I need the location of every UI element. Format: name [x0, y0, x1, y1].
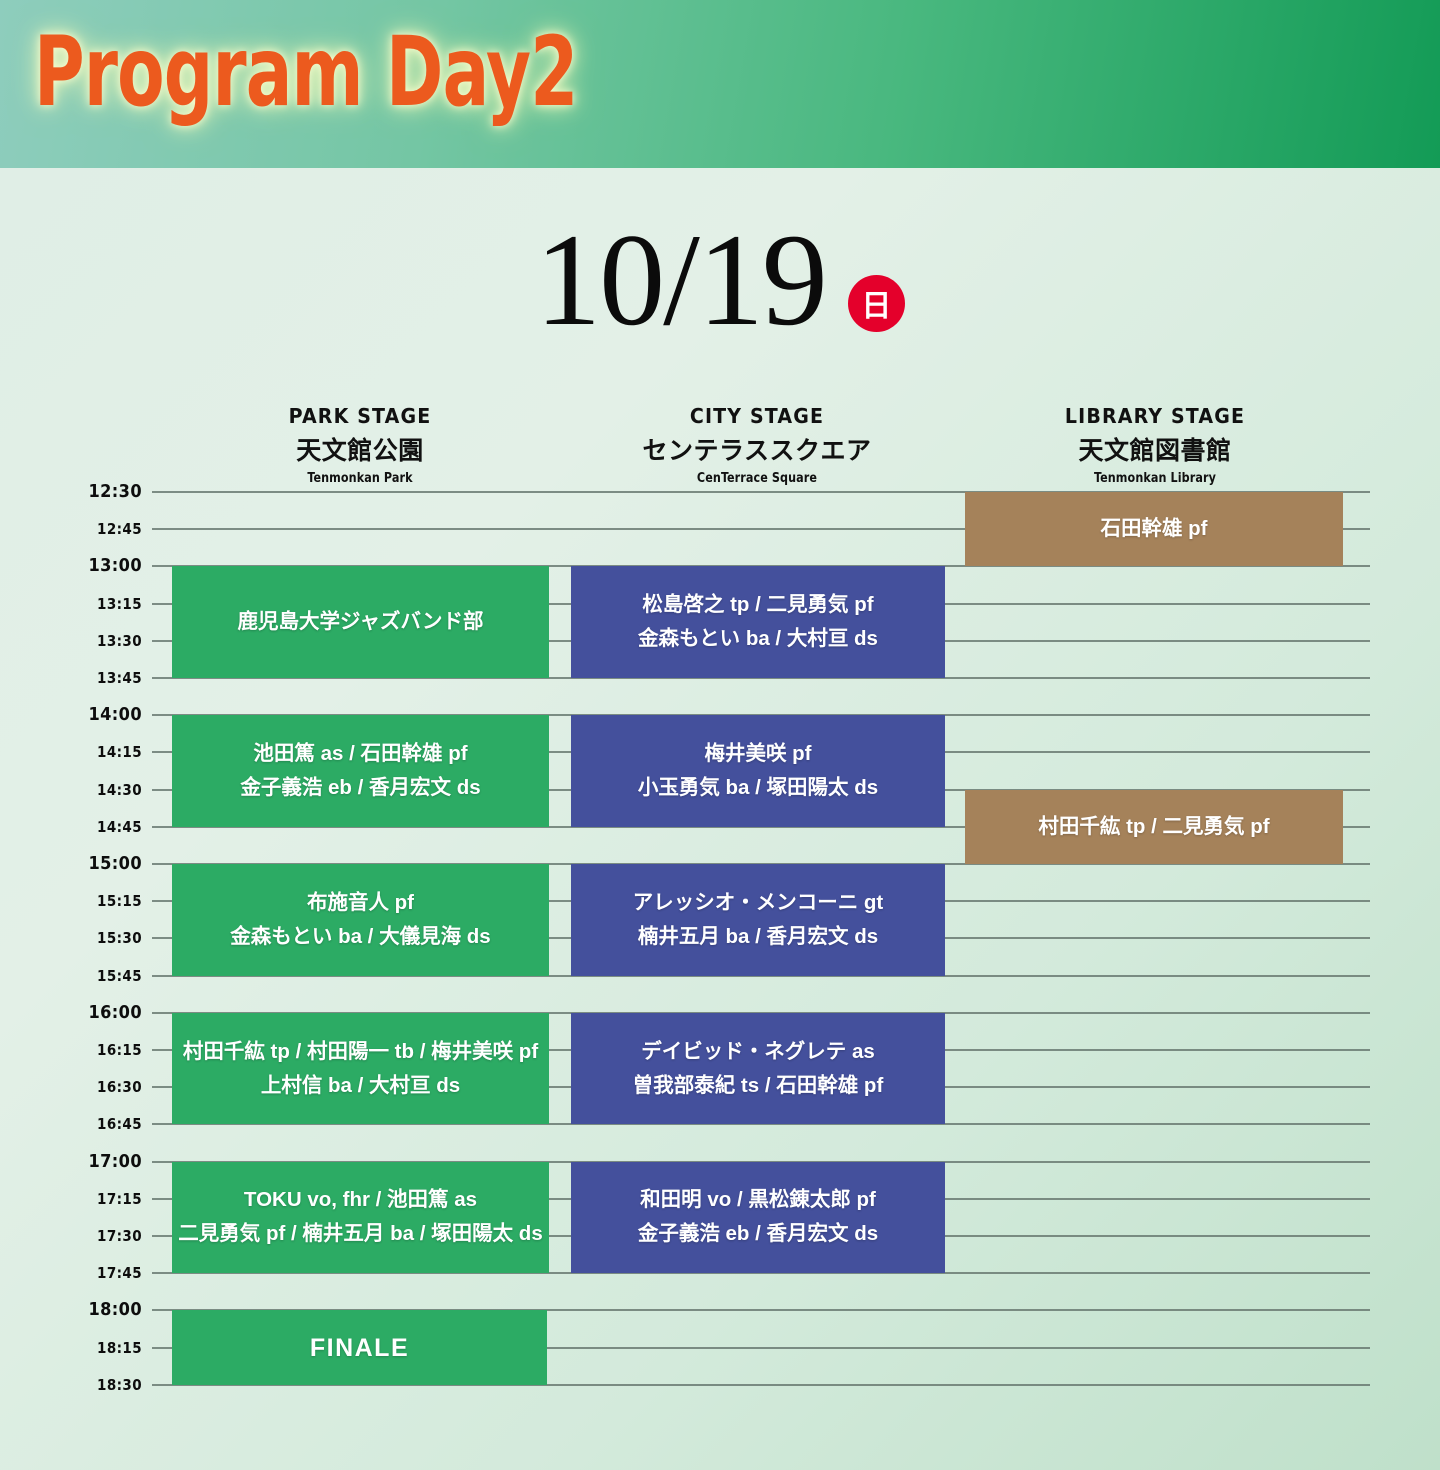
event-line: FINALE — [310, 1331, 409, 1365]
time-label: 13:15 — [97, 595, 142, 613]
time-label: 16:30 — [97, 1078, 142, 1096]
time-label: 15:45 — [97, 967, 142, 985]
event-line: 小玉勇気 ba / 塚田陽太 ds — [638, 771, 878, 805]
time-label: 14:30 — [97, 781, 142, 799]
schedule-grid: 12:3012:4513:0013:1513:3013:4514:0014:15… — [0, 0, 1440, 1470]
time-label: 14:15 — [97, 743, 142, 761]
event-line: 楠井五月 ba / 香月宏文 ds — [638, 920, 878, 954]
time-label: 13:45 — [97, 669, 142, 687]
time-label: 14:45 — [97, 818, 142, 836]
time-label: 12:30 — [88, 481, 142, 502]
event-block-park[interactable]: TOKU vo, fhr / 池田篤 as二見勇気 pf / 楠井五月 ba /… — [172, 1162, 549, 1274]
event-line: 村田千紘 tp / 村田陽一 tb / 梅井美咲 pf — [183, 1035, 538, 1069]
event-block-park[interactable]: 村田千紘 tp / 村田陽一 tb / 梅井美咲 pf上村信 ba / 大村亘 … — [172, 1013, 549, 1125]
event-line: 鹿児島大学ジャズバンド部 — [238, 605, 484, 639]
event-line: 金子義浩 eb / 香月宏文 ds — [240, 771, 480, 805]
event-line: 梅井美咲 pf — [704, 737, 811, 771]
event-line: デイビッド・ネグレテ as — [641, 1035, 875, 1069]
event-line: 上村信 ba / 大村亘 ds — [261, 1069, 460, 1103]
event-block-park[interactable]: 池田篤 as / 石田幹雄 pf金子義浩 eb / 香月宏文 ds — [172, 715, 549, 827]
event-line: 金森もとい ba / 大儀見海 ds — [230, 920, 490, 954]
time-label: 17:30 — [97, 1227, 142, 1245]
event-line: 石田幹雄 pf — [1100, 512, 1207, 546]
time-label: 16:15 — [97, 1041, 142, 1059]
time-label: 15:30 — [97, 929, 142, 947]
event-line: 布施音人 pf — [307, 886, 414, 920]
event-line: 金森もとい ba / 大村亘 ds — [638, 622, 878, 656]
event-line: アレッシオ・メンコーニ gt — [633, 886, 884, 920]
event-block-library[interactable]: 石田幹雄 pf — [965, 492, 1343, 566]
event-line: 池田篤 as / 石田幹雄 pf — [253, 737, 467, 771]
time-label: 15:15 — [97, 892, 142, 910]
time-label: 17:15 — [97, 1190, 142, 1208]
time-label: 15:00 — [88, 853, 142, 874]
event-block-park[interactable]: 鹿児島大学ジャズバンド部 — [172, 566, 549, 678]
time-label: 12:45 — [97, 520, 142, 538]
time-label: 16:45 — [97, 1115, 142, 1133]
event-line: 金子義浩 eb / 香月宏文 ds — [638, 1217, 878, 1251]
event-line: 和田明 vo / 黒松錬太郎 pf — [640, 1183, 876, 1217]
event-line: 松島啓之 tp / 二見勇気 pf — [642, 588, 873, 622]
event-block-park[interactable]: 布施音人 pf金森もとい ba / 大儀見海 ds — [172, 864, 549, 976]
time-label: 17:00 — [88, 1151, 142, 1172]
event-block-city[interactable]: アレッシオ・メンコーニ gt楠井五月 ba / 香月宏文 ds — [571, 864, 945, 976]
time-label: 18:15 — [97, 1339, 142, 1357]
time-label: 16:00 — [88, 1002, 142, 1023]
time-label: 13:00 — [88, 555, 142, 576]
event-line: 村田千紘 tp / 二見勇気 pf — [1038, 810, 1269, 844]
time-label: 17:45 — [97, 1264, 142, 1282]
event-line: 曽我部泰紀 ts / 石田幹雄 pf — [633, 1069, 884, 1103]
event-block-city[interactable]: デイビッド・ネグレテ as曽我部泰紀 ts / 石田幹雄 pf — [571, 1013, 945, 1125]
event-block-city[interactable]: 梅井美咲 pf小玉勇気 ba / 塚田陽太 ds — [571, 715, 945, 827]
event-block-library[interactable]: 村田千紘 tp / 二見勇気 pf — [965, 790, 1343, 864]
time-label: 18:00 — [88, 1299, 142, 1320]
time-label: 18:30 — [97, 1376, 142, 1394]
event-line: TOKU vo, fhr / 池田篤 as — [244, 1183, 477, 1217]
event-line: 二見勇気 pf / 楠井五月 ba / 塚田陽太 ds — [178, 1217, 542, 1251]
event-block-park[interactable]: FINALE — [172, 1310, 547, 1384]
event-block-city[interactable]: 和田明 vo / 黒松錬太郎 pf金子義浩 eb / 香月宏文 ds — [571, 1162, 945, 1274]
time-label: 13:30 — [97, 632, 142, 650]
time-label: 14:00 — [88, 704, 142, 725]
event-block-city[interactable]: 松島啓之 tp / 二見勇気 pf金森もとい ba / 大村亘 ds — [571, 566, 945, 678]
